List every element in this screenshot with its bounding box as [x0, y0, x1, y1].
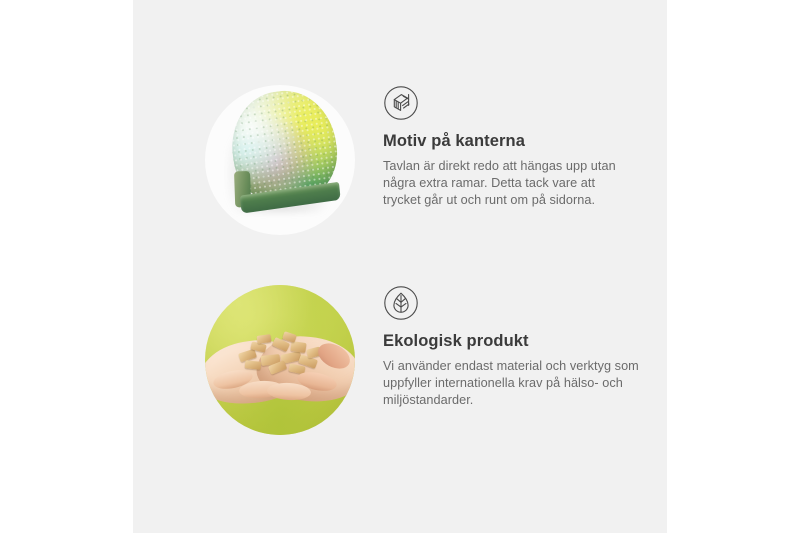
canvas-print-photo — [205, 85, 355, 235]
feature-description-line: några extra ramar. Detta tack vare att — [383, 175, 667, 192]
feature-description: Tavlan är direkt redo att hängas upp uta… — [383, 158, 667, 209]
feature-description-line: uppfyller internationella krav på hälso-… — [383, 375, 667, 392]
feature-description-line: Vi använder endast material och verktyg … — [383, 358, 667, 375]
canvas-wrapped-edge-icon — [383, 85, 419, 121]
feature-text-2: Ekologisk produkt Vi använder endast mat… — [383, 285, 667, 409]
feature-text-1: Motiv på kanterna Tavlan är direkt redo … — [383, 85, 667, 209]
feature-description-line: trycket går ut och runt om på sidorna. — [383, 192, 667, 209]
feature-block-motiv-pa-kanterna: Motiv på kanterna Tavlan är direkt redo … — [133, 85, 667, 255]
feature-block-ekologisk-produkt: Ekologisk produkt Vi använder endast mat… — [133, 285, 667, 455]
feature-description: Vi använder endast material och verktyg … — [383, 358, 667, 409]
wood-chips-in-hands-photo — [205, 285, 355, 435]
feature-description-line: miljöstandarder. — [383, 392, 667, 409]
feature-description-line: Tavlan är direkt redo att hängas upp uta… — [383, 158, 667, 175]
product-feature-banner: Motiv på kanterna Tavlan är direkt redo … — [0, 0, 800, 533]
feature-title: Motiv på kanterna — [383, 131, 667, 151]
content-panel: Motiv på kanterna Tavlan är direkt redo … — [133, 0, 667, 533]
feature-title: Ekologisk produkt — [383, 331, 667, 351]
leaf-icon — [383, 285, 419, 321]
canvas-print-object — [225, 85, 345, 222]
